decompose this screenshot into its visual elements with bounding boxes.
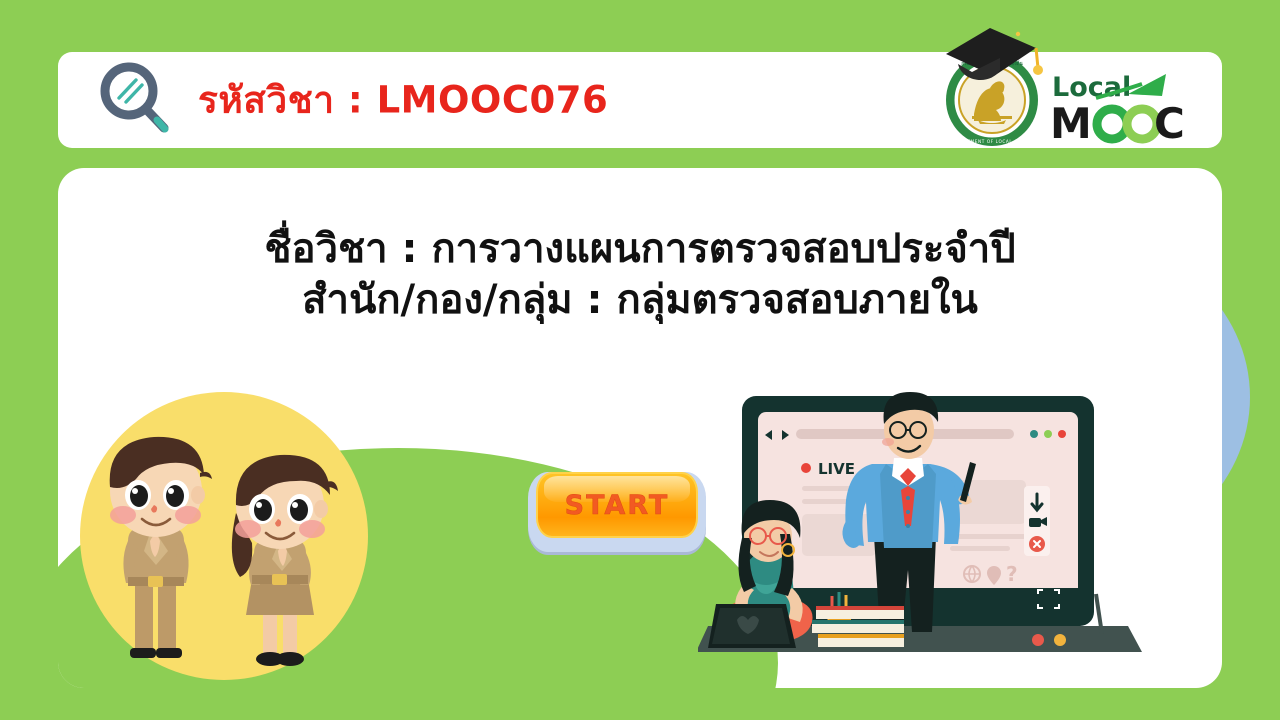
department-line: สำนัก/กอง/กลุ่ม : กลุ่มตรวจสอบภายใน: [58, 275, 1222, 326]
svg-text:LIVE: LIVE: [818, 460, 855, 478]
svg-text:M: M: [1050, 99, 1092, 146]
video-camera-icon: [1029, 518, 1041, 527]
book-stack: [812, 606, 904, 647]
svg-text:?: ?: [1006, 562, 1018, 586]
start-button[interactable]: START: [528, 466, 706, 554]
course-title-block: ชื่อวิชา : การวางแผนการตรวจสอบประจำปี สำ…: [58, 224, 1222, 326]
start-button-label: START: [528, 472, 706, 538]
local-mooc-wordmark: Local M C: [1050, 64, 1190, 146]
svg-text:DEPARTMENT OF LOCAL ADMIN.: DEPARTMENT OF LOCAL ADMIN.: [951, 139, 1033, 144]
two-thai-officials-illustration: [78, 383, 378, 688]
graduation-cap-icon: [938, 20, 1048, 96]
course-name-line: ชื่อวิชา : การวางแผนการตรวจสอบประจำปี: [58, 224, 1222, 275]
header-card: รหัสวิชา : LMOOC076 กรมส่งเสริมการปกครอง…: [58, 52, 1222, 148]
svg-text:C: C: [1154, 99, 1185, 146]
magnifier-icon: [94, 58, 178, 142]
live-dot-icon: [801, 463, 811, 473]
online-learning-illustration: LIVE ?: [698, 368, 1222, 688]
main-content-card: ชื่อวิชา : การวางแผนการตรวจสอบประจำปี สำ…: [58, 168, 1222, 688]
brand-logo: กรมส่งเสริมการปกครองท้องถิ่น DEPARTMENT …: [944, 20, 1194, 160]
side-icon-strip: [1024, 486, 1050, 556]
course-code-label: รหัสวิชา : LMOOC076: [198, 71, 608, 130]
